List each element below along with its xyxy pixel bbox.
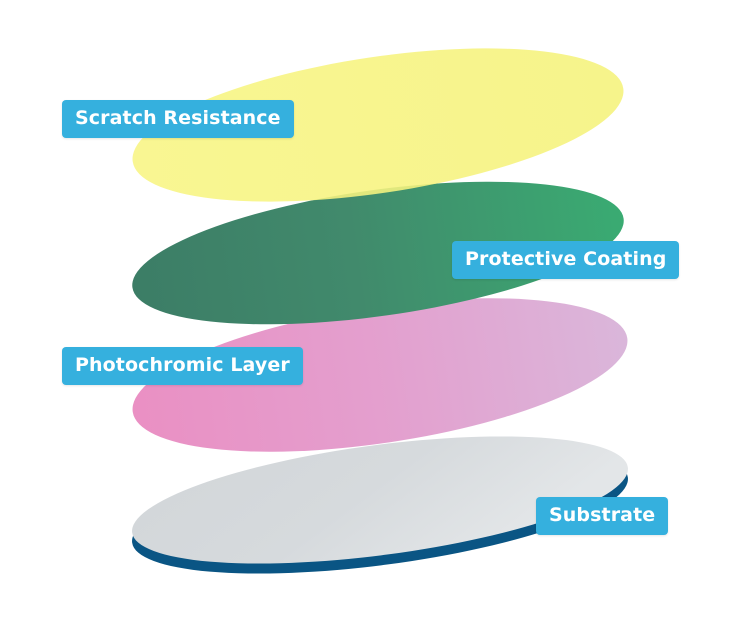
layer-label-substrate[interactable]: Substrate xyxy=(536,497,668,535)
layer-stack-diagram: Scratch Resistance Protective Coating Ph… xyxy=(0,0,751,628)
layer-label-scratch-resistance[interactable]: Scratch Resistance xyxy=(62,100,294,138)
layer-label-photochromic-layer[interactable]: Photochromic Layer xyxy=(62,347,303,385)
layer-label-protective-coating[interactable]: Protective Coating xyxy=(452,241,679,279)
